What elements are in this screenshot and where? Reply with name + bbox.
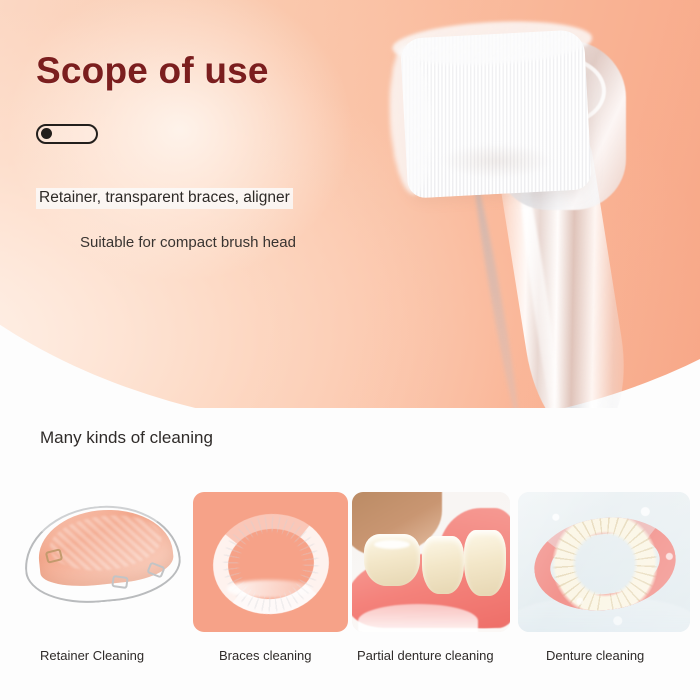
cleaning-card-braces[interactable] (193, 492, 348, 632)
cleaning-card-denture[interactable] (518, 492, 690, 632)
cleaning-types-section: Many kinds of cleaning (0, 408, 700, 700)
cleaning-card-partial-denture[interactable] (352, 492, 510, 632)
partial-denture-image (352, 492, 510, 632)
cleaning-card-retainer[interactable] (16, 492, 188, 632)
retainer-clasp (111, 575, 129, 589)
partial-denture-tooth (422, 536, 464, 594)
product-feature-page: Scope of use Retainer, transparent brace… (0, 0, 700, 700)
caption-denture-cleaning: Denture cleaning (546, 648, 644, 663)
cleaning-cards (0, 492, 700, 632)
caption-retainer-cleaning: Retainer Cleaning (40, 648, 144, 663)
page-title: Scope of use (36, 50, 269, 92)
scope-toggle[interactable] (36, 124, 98, 144)
full-denture-image (518, 492, 690, 632)
hero-section: Scope of use Retainer, transparent brace… (0, 0, 700, 440)
retainer-image (16, 492, 188, 632)
clear-aligner-image (193, 492, 348, 632)
brush-bristle-shadow (422, 138, 572, 184)
caption-partial-denture-cleaning: Partial denture cleaning (357, 648, 494, 663)
caption-braces-cleaning: Braces cleaning (219, 648, 312, 663)
scope-secondary-text: Suitable for compact brush head (80, 234, 296, 251)
scope-primary-text: Retainer, transparent braces, aligner (36, 188, 293, 209)
partial-denture-tooth (464, 530, 506, 596)
partial-denture-lower-lip (358, 604, 478, 632)
toggle-knob (41, 128, 52, 139)
section-heading: Many kinds of cleaning (40, 428, 213, 448)
toothbrush-image (396, 18, 696, 438)
partial-denture-highlight (374, 540, 410, 549)
aligner-teeth (208, 508, 334, 620)
aligner-gloss (227, 580, 313, 598)
